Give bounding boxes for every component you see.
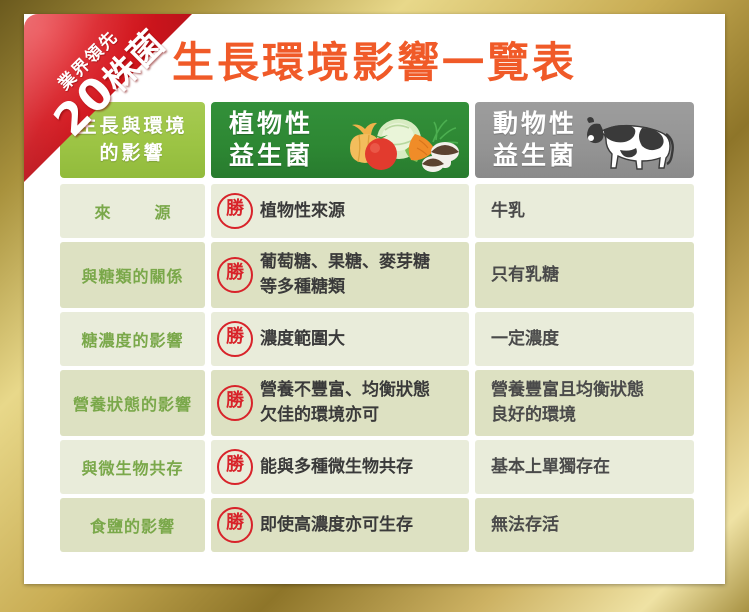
vegetables-icon [341, 112, 461, 174]
header-cell-plant: 植物性 益生菌 [211, 102, 469, 178]
row-plant-text: 植物性來源 [260, 199, 345, 224]
row-plant-text: 葡萄糖、果糖、麥芽糖等多種糖類 [260, 250, 430, 300]
page-title: 生長環境影響一覽表 [24, 40, 725, 86]
win-seal-icon: 勝 [217, 385, 253, 421]
table-row: 營養狀態的影響勝營養不豐富、均衡狀態欠佳的環境亦可營養豐富且均衡狀態良好的環境 [60, 370, 694, 436]
row-animal-text: 無法存活 [491, 513, 559, 538]
row-plant-text: 能與多種微生物共存 [260, 455, 413, 480]
row-plant-line: 能與多種微生物共存 [260, 455, 413, 480]
row-plant-cell: 勝即使高濃度亦可生存 [211, 498, 469, 552]
row-animal-text: 只有乳糖 [491, 263, 559, 288]
row-animal-line: 良好的環境 [491, 403, 644, 428]
row-plant-line: 濃度範圍大 [260, 327, 345, 352]
row-plant-line: 植物性來源 [260, 199, 345, 224]
cow-icon [580, 110, 684, 174]
row-plant-line: 葡萄糖、果糖、麥芽糖 [260, 250, 430, 275]
row-plant-text: 營養不豐富、均衡狀態欠佳的環境亦可 [260, 378, 430, 428]
row-plant-text: 即使高濃度亦可生存 [260, 513, 413, 538]
row-animal-text: 基本上單獨存在 [491, 455, 610, 480]
win-seal-icon: 勝 [217, 257, 253, 293]
header-factor-line2: 的影響 [77, 140, 187, 167]
row-animal-line: 營養豐富且均衡狀態 [491, 378, 644, 403]
table-row: 糖濃度的影響勝濃度範圍大一定濃度 [60, 312, 694, 366]
row-animal-cell: 牛乳 [475, 184, 694, 238]
row-factor-label: 食鹽的影響 [60, 498, 205, 552]
win-seal-icon: 勝 [217, 507, 253, 543]
row-animal-line: 基本上單獨存在 [491, 455, 610, 480]
row-animal-line: 牛乳 [491, 199, 525, 224]
header-plant-label: 植物性 益生菌 [229, 108, 313, 172]
header-cell-factor: 生長與環境 的影響 [60, 102, 205, 178]
table-row: 食鹽的影響勝即使高濃度亦可生存無法存活 [60, 498, 694, 552]
row-plant-line: 等多種糖類 [260, 275, 430, 300]
row-animal-line: 一定濃度 [491, 327, 559, 352]
poster-card: 業界領先 20株菌 生長環境影響一覽表 生長與環境 的影響 植物性 益 [24, 14, 725, 584]
row-factor-label: 糖濃度的影響 [60, 312, 205, 366]
row-animal-cell: 基本上單獨存在 [475, 440, 694, 494]
row-plant-cell: 勝葡萄糖、果糖、麥芽糖等多種糖類 [211, 242, 469, 308]
row-animal-cell: 營養豐富且均衡狀態良好的環境 [475, 370, 694, 436]
row-factor-label: 與微生物共存 [60, 440, 205, 494]
table-header-row: 生長與環境 的影響 植物性 益生菌 [60, 102, 694, 178]
win-seal-icon: 勝 [217, 449, 253, 485]
header-animal-line1: 動物性 [493, 108, 577, 140]
header-animal-line2: 益生菌 [493, 140, 577, 172]
row-plant-cell: 勝植物性來源 [211, 184, 469, 238]
row-animal-text: 牛乳 [491, 199, 525, 224]
header-cell-animal: 動物性 益生菌 [475, 102, 694, 178]
table-body: 來 源勝植物性來源牛乳與糖類的關係勝葡萄糖、果糖、麥芽糖等多種糖類只有乳糖糖濃度… [60, 184, 694, 552]
row-plant-cell: 勝能與多種微生物共存 [211, 440, 469, 494]
header-factor-line1: 生長與環境 [77, 113, 187, 140]
comparison-table: 生長與環境 的影響 植物性 益生菌 [60, 102, 694, 556]
header-plant-line1: 植物性 [229, 108, 313, 140]
row-animal-line: 無法存活 [491, 513, 559, 538]
row-animal-text: 一定濃度 [491, 327, 559, 352]
row-plant-line: 欠佳的環境亦可 [260, 403, 430, 428]
row-plant-text: 濃度範圍大 [260, 327, 345, 352]
row-plant-line: 即使高濃度亦可生存 [260, 513, 413, 538]
row-factor-label: 營養狀態的影響 [60, 370, 205, 436]
header-plant-line2: 益生菌 [229, 140, 313, 172]
table-row: 來 源勝植物性來源牛乳 [60, 184, 694, 238]
table-row: 與糖類的關係勝葡萄糖、果糖、麥芽糖等多種糖類只有乳糖 [60, 242, 694, 308]
row-animal-line: 只有乳糖 [491, 263, 559, 288]
row-factor-label: 來 源 [60, 184, 205, 238]
row-factor-label: 與糖類的關係 [60, 242, 205, 308]
row-animal-cell: 無法存活 [475, 498, 694, 552]
row-animal-cell: 只有乳糖 [475, 242, 694, 308]
header-animal-label: 動物性 益生菌 [493, 108, 577, 172]
poster-frame: 業界領先 20株菌 生長環境影響一覽表 生長與環境 的影響 植物性 益 [0, 0, 749, 612]
row-plant-line: 營養不豐富、均衡狀態 [260, 378, 430, 403]
win-seal-icon: 勝 [217, 321, 253, 357]
row-animal-text: 營養豐富且均衡狀態良好的環境 [491, 378, 644, 428]
row-plant-cell: 勝濃度範圍大 [211, 312, 469, 366]
win-seal-icon: 勝 [217, 193, 253, 229]
header-factor-label: 生長與環境 的影響 [77, 113, 187, 167]
row-animal-cell: 一定濃度 [475, 312, 694, 366]
row-plant-cell: 勝營養不豐富、均衡狀態欠佳的環境亦可 [211, 370, 469, 436]
table-row: 與微生物共存勝能與多種微生物共存基本上單獨存在 [60, 440, 694, 494]
